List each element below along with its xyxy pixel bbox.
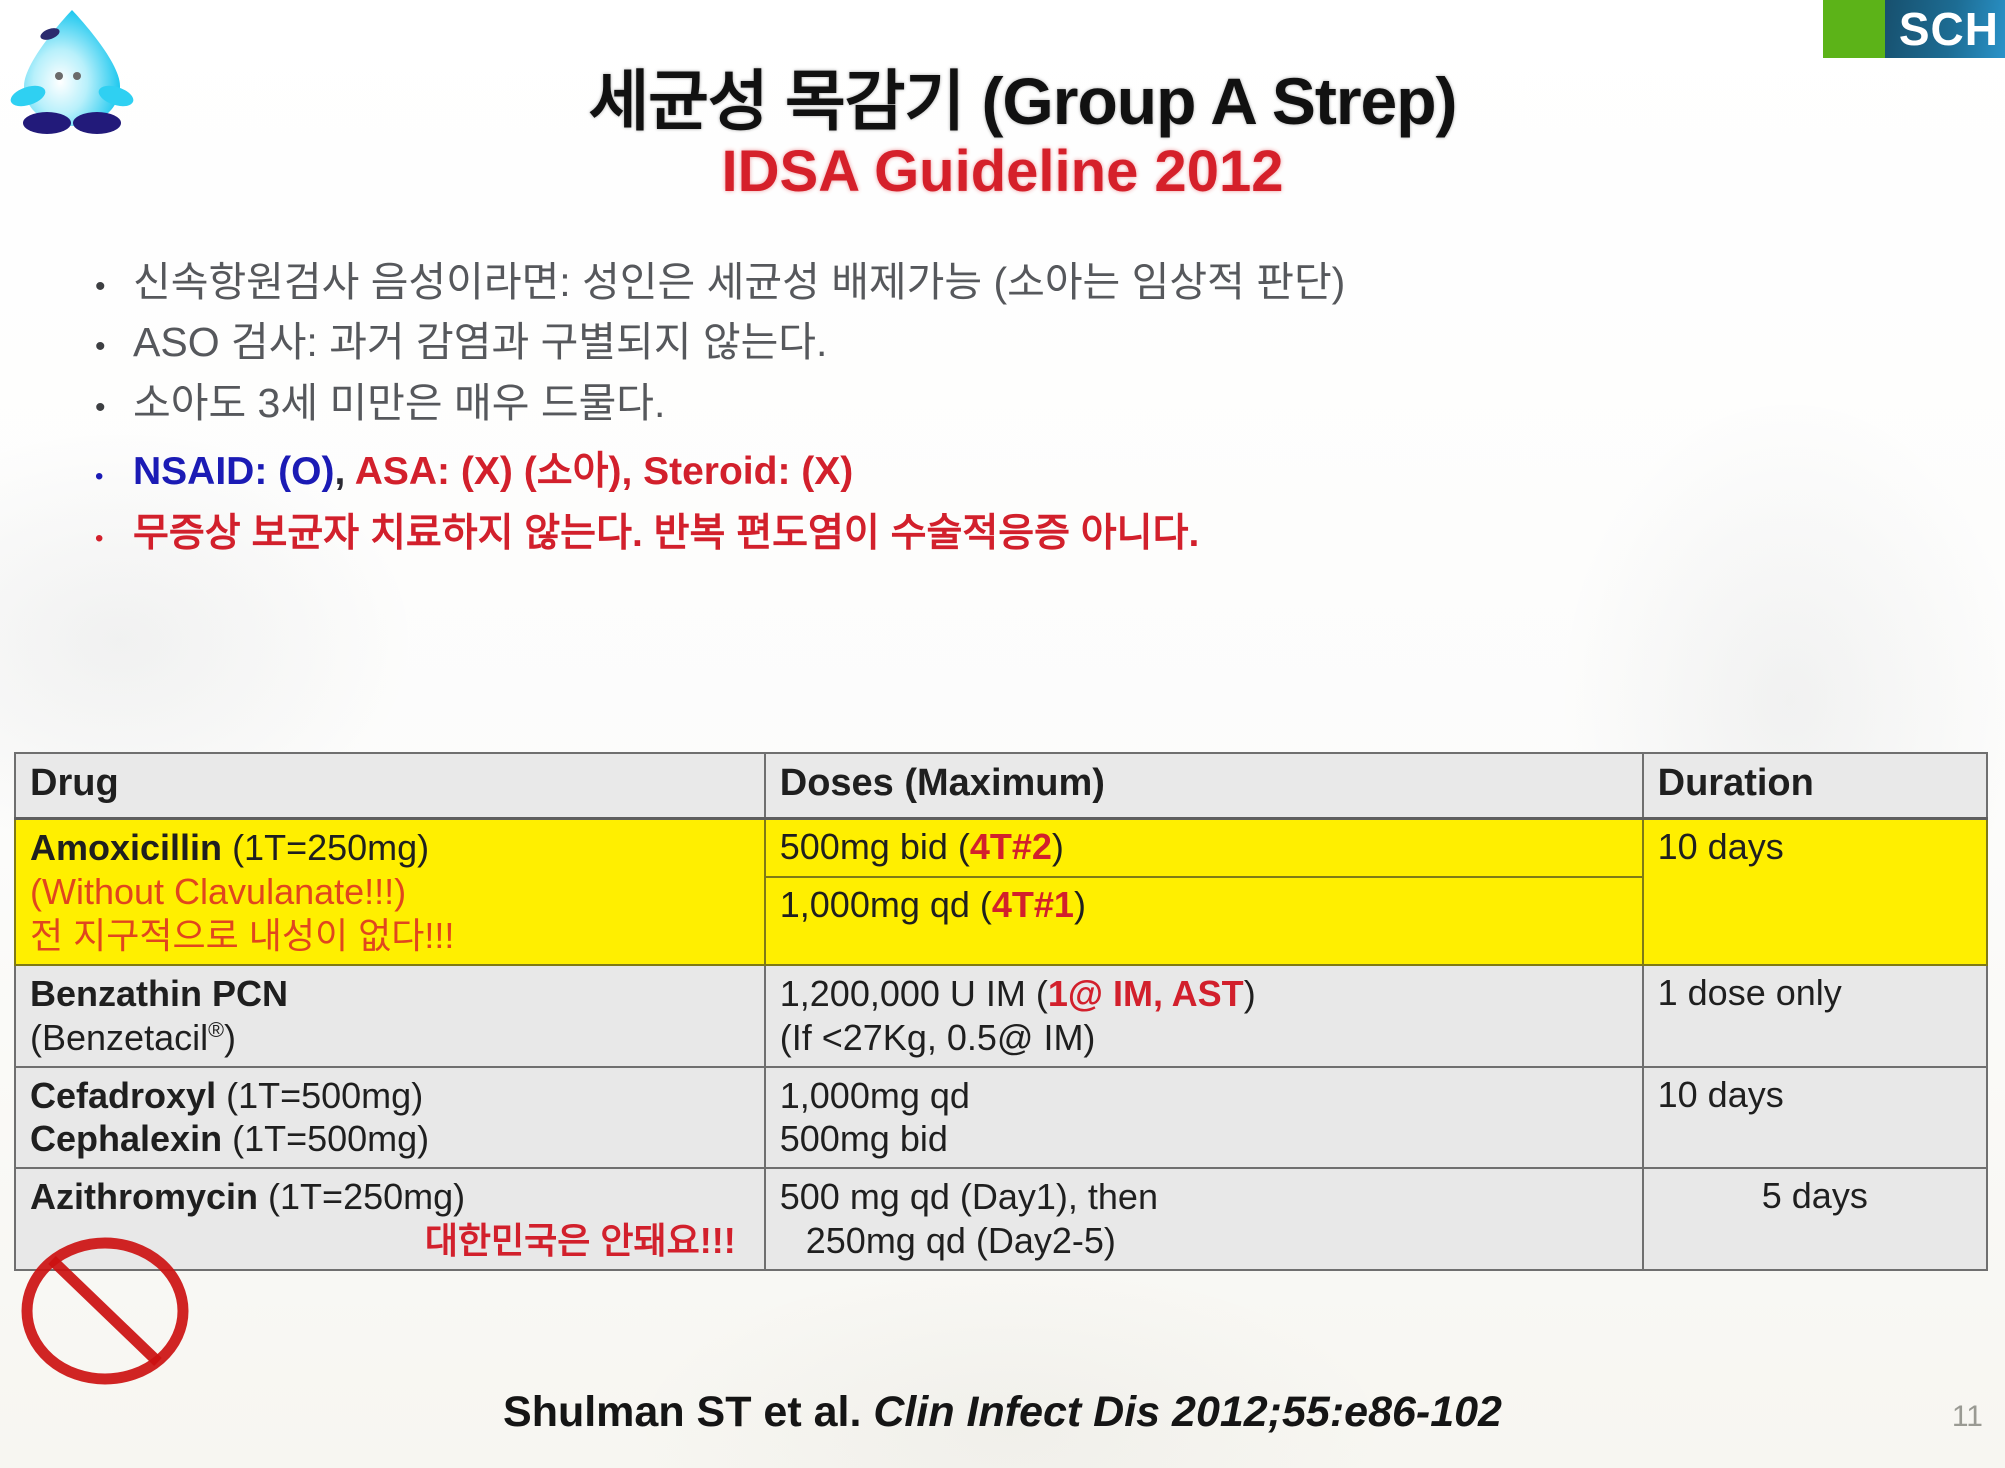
dose-text-end: ) bbox=[1052, 826, 1064, 867]
bullet-marker-icon: • bbox=[95, 272, 133, 302]
page-title: 세균성 목감기 (Group A Strep) bbox=[0, 48, 2005, 144]
nsaid-separator: , bbox=[334, 450, 345, 493]
cell-dose-amoxicillin-qd: 1,000mg qd (4T#1) bbox=[765, 877, 1643, 964]
drug-note-resistance: 전 지구적으로 내성이 없다!!! bbox=[30, 914, 750, 958]
cell-dose-azithromycin: 500 mg qd (Day1), then 250mg qd (Day2-5) bbox=[765, 1168, 1643, 1270]
list-item: • ASO 검사: 과거 감염과 구별되지 않는다. bbox=[95, 318, 1945, 366]
cell-duration-cephalosporins: 10 days bbox=[1643, 1067, 1987, 1169]
dose-text-end: ) bbox=[1244, 973, 1256, 1014]
bullet-marker-icon: • bbox=[95, 527, 133, 551]
list-item-label: NSAID: (O), ASA: (X) (소아), Steroid: (X) bbox=[133, 449, 853, 495]
cell-duration-amoxicillin: 10 days bbox=[1643, 819, 1987, 965]
dose-line-1: 1,000mg qd bbox=[780, 1074, 1628, 1118]
dose-text: 1,000mg qd ( bbox=[780, 884, 992, 925]
citation: Shulman ST et al. Clin Infect Dis 2012;5… bbox=[0, 1388, 2005, 1437]
drug-strength: (1T=500mg) bbox=[226, 1075, 423, 1116]
dose-line-2: (If <27Kg, 0.5@ IM) bbox=[780, 1016, 1628, 1060]
dose-line-2: 500mg bid bbox=[780, 1117, 1628, 1161]
page-title-text: 세균성 목감기 (Group A Strep) bbox=[548, 64, 1456, 138]
table-row-azithromycin: Azithromycin (1T=250mg) 대한민국은 안돼요!!! 500… bbox=[15, 1168, 1987, 1270]
drug-line-1: Azithromycin (1T=250mg) bbox=[30, 1175, 750, 1219]
table-row-benzathin: Benzathin PCN (Benzetacil®) 1,200,000 U … bbox=[15, 965, 1987, 1067]
list-item-label: 무증상 보균자 치료하지 않는다. 반복 편도염이 수술적응증 아니다. bbox=[133, 511, 1199, 557]
slide-canvas: SCH 세균성 목감기 (Group A Strep) IDSA Guideli… bbox=[0, 0, 2005, 1468]
list-item: • 신속항원검사 음성이라면: 성인은 세균성 배제가능 (소아는 임상적 판단… bbox=[95, 258, 1945, 306]
cell-drug-benzathin: Benzathin PCN (Benzetacil®) bbox=[15, 965, 765, 1067]
list-item-label: 소아도 3세 미만은 매우 드물다. bbox=[133, 379, 665, 427]
dose-emphasis: 4T#1 bbox=[992, 884, 1074, 925]
bullet-marker-icon: • bbox=[95, 332, 133, 362]
dose-emphasis: 1@ IM, AST bbox=[1048, 973, 1244, 1014]
cell-dose-amoxicillin-bid: 500mg bid (4T#2) bbox=[765, 819, 1643, 878]
drug-name: Azithromycin bbox=[30, 1176, 258, 1217]
dose-line-1: 1,200,000 U IM (1@ IM, AST) bbox=[780, 972, 1628, 1016]
drug-name-2: Cephalexin bbox=[30, 1118, 222, 1159]
drug-note-clavulanate: (Without Clavulanate!!!) bbox=[30, 870, 750, 914]
page-number: 11 bbox=[1952, 1400, 1983, 1434]
drug-line-1: Cefadroxyl (1T=500mg) bbox=[30, 1074, 750, 1118]
page-subtitle: IDSA Guideline 2012 bbox=[0, 138, 2005, 205]
drug-strength: (1T=250mg) bbox=[268, 1176, 465, 1217]
table-header-row: Drug Doses (Maximum) Duration bbox=[15, 753, 1987, 819]
table-row-amoxicillin: Amoxicillin (1T=250mg) (Without Clavulan… bbox=[15, 819, 1987, 878]
drug-strength-2: (1T=500mg) bbox=[232, 1118, 429, 1159]
bullet-marker-icon: • bbox=[95, 393, 133, 423]
cell-dose-benzathin: 1,200,000 U IM (1@ IM, AST) (If <27Kg, 0… bbox=[765, 965, 1643, 1067]
bullet-marker-icon: • bbox=[95, 465, 133, 489]
drug-strength: (1T=250mg) bbox=[232, 827, 429, 868]
list-item: • 소아도 3세 미만은 매우 드물다. bbox=[95, 379, 1945, 427]
registered-mark-icon: ® bbox=[208, 1017, 224, 1042]
dose-line-1: 500 mg qd (Day1), then bbox=[780, 1175, 1628, 1219]
drug-name: Amoxicillin bbox=[30, 827, 222, 868]
drug-title-line: Amoxicillin (1T=250mg) bbox=[30, 826, 750, 870]
drug-brand: (Benzetacil®) bbox=[30, 1016, 750, 1060]
citation-journal: Clin Infect Dis 2012;55:e86-102 bbox=[873, 1388, 1502, 1436]
logo-text: SCH bbox=[1899, 6, 1999, 52]
dose-line-2: 250mg qd (Day2-5) bbox=[780, 1219, 1628, 1263]
column-header-drug: Drug bbox=[15, 753, 765, 819]
drug-name: Cefadroxyl bbox=[30, 1075, 216, 1116]
dose-text: 1,200,000 U IM ( bbox=[780, 973, 1048, 1014]
drug-brand-text: (Benzetacil bbox=[30, 1017, 208, 1058]
drug-line-2: Cephalexin (1T=500mg) bbox=[30, 1117, 750, 1161]
cell-duration-benzathin: 1 dose only bbox=[1643, 965, 1987, 1067]
drug-name: Benzathin PCN bbox=[30, 972, 750, 1016]
treatment-table: Drug Doses (Maximum) Duration Amoxicilli… bbox=[14, 752, 1988, 1271]
citation-authors: Shulman ST et al. bbox=[503, 1388, 873, 1436]
drug-note-korea: 대한민국은 안돼요!!! bbox=[30, 1219, 750, 1263]
dose-text: 500mg bid ( bbox=[780, 826, 970, 867]
dose-text-end: ) bbox=[1074, 884, 1086, 925]
cell-drug-azithromycin: Azithromycin (1T=250mg) 대한민국은 안돼요!!! bbox=[15, 1168, 765, 1270]
column-header-doses: Doses (Maximum) bbox=[765, 753, 1643, 819]
cell-drug-amoxicillin: Amoxicillin (1T=250mg) (Without Clavulan… bbox=[15, 819, 765, 965]
nsaid-red-part: ASA: (X) (소아), Steroid: (X) bbox=[345, 450, 853, 493]
cell-duration-azithromycin: 5 days bbox=[1643, 1168, 1987, 1270]
nsaid-blue-part: NSAID: (O) bbox=[133, 450, 334, 493]
list-item-label: 신속항원검사 음성이라면: 성인은 세균성 배제가능 (소아는 임상적 판단) bbox=[133, 258, 1345, 306]
list-item-label: ASO 검사: 과거 감염과 구별되지 않는다. bbox=[133, 318, 827, 366]
list-item-warning: • 무증상 보균자 치료하지 않는다. 반복 편도염이 수술적응증 아니다. bbox=[95, 511, 1945, 557]
bullet-list: • 신속항원검사 음성이라면: 성인은 세균성 배제가능 (소아는 임상적 판단… bbox=[95, 258, 1945, 569]
drug-brand-end: ) bbox=[224, 1017, 236, 1058]
dose-emphasis: 4T#2 bbox=[970, 826, 1052, 867]
cell-drug-cephalosporins: Cefadroxyl (1T=500mg) Cephalexin (1T=500… bbox=[15, 1067, 765, 1169]
column-header-duration: Duration bbox=[1643, 753, 1987, 819]
list-item-nsaid: • NSAID: (O), ASA: (X) (소아), Steroid: (X… bbox=[95, 449, 1945, 495]
table-row-cephalosporins: Cefadroxyl (1T=500mg) Cephalexin (1T=500… bbox=[15, 1067, 1987, 1169]
cell-dose-cephalosporins: 1,000mg qd 500mg bid bbox=[765, 1067, 1643, 1169]
